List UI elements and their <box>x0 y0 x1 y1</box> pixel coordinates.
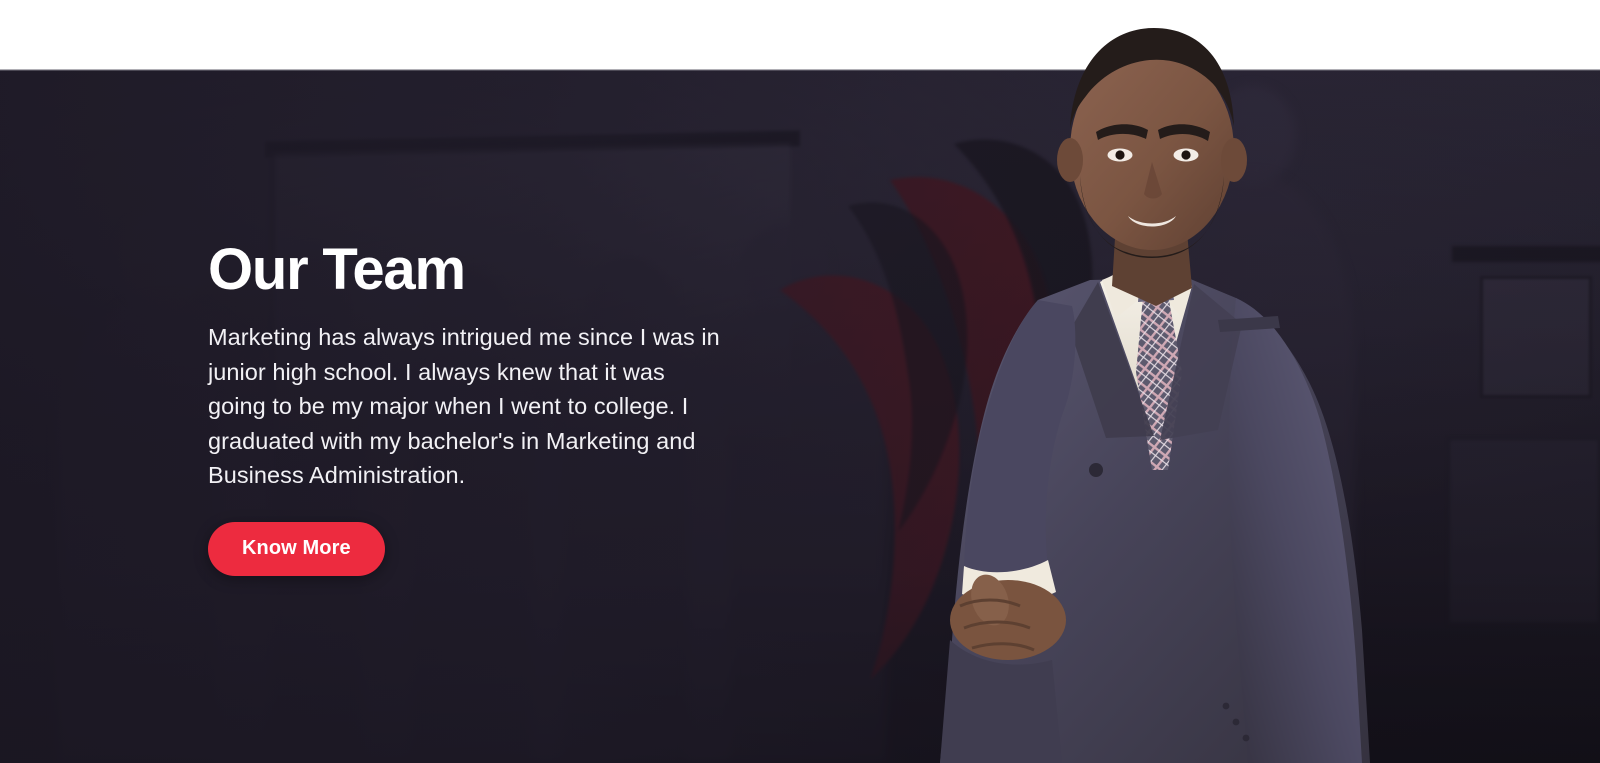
avatar <box>930 0 1380 763</box>
know-more-button[interactable]: Know More <box>208 522 385 576</box>
page-title: Our Team <box>208 240 728 300</box>
hero-copy-block: Our Team Marketing has always intrigued … <box>208 240 728 576</box>
hero-description: Marketing has always intrigued me since … <box>208 320 728 492</box>
our-team-hero-section: Our Team Marketing has always intrigued … <box>0 0 1600 763</box>
